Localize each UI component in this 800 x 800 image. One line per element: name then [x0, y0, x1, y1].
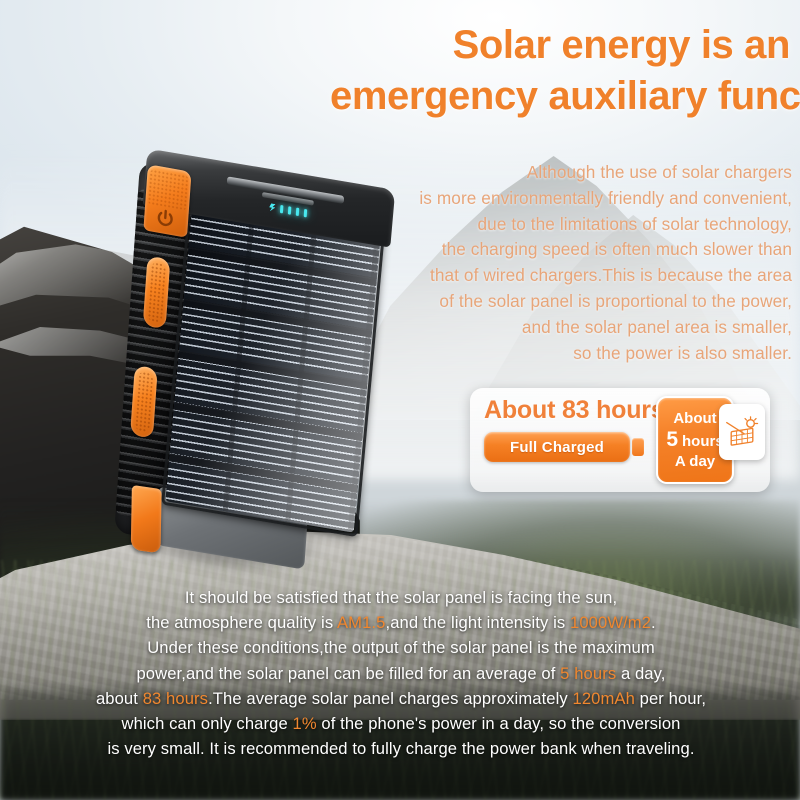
detail-paragraph: It should be satisfied that the solar pa… [20, 585, 782, 762]
headline-line-2: emergency auxiliary function [330, 71, 790, 122]
intro-line-5: that of wired chargers.This is because t… [300, 263, 792, 289]
text-run: . [651, 613, 656, 632]
text-run: Under these conditions,the output of the… [147, 638, 655, 657]
text-run: about [96, 689, 143, 708]
carry-strap [131, 485, 162, 554]
text-run: the atmosphere quality is [146, 613, 337, 632]
highlighted-value: 1000W/m2 [570, 613, 651, 632]
led-indicator [288, 206, 292, 214]
solar-panel-sun-icon [719, 404, 765, 460]
side-grip-pad [130, 365, 158, 439]
headline-line-1: Solar energy is an [330, 20, 790, 71]
intro-line-7: and the solar panel area is smaller, [300, 315, 792, 341]
highlighted-value: 5 hours [560, 664, 616, 683]
highlighted-value: 1% [292, 714, 316, 733]
highlighted-value: AM1.5 [337, 613, 385, 632]
intro-line-1: Although the use of solar chargers [300, 160, 792, 186]
battery-body: Full Charged [484, 432, 630, 462]
power-pad-texture [147, 169, 189, 212]
text-run: per hour, [635, 689, 706, 708]
daybox-line-2: 5 hours [666, 428, 723, 452]
detail-line-4: power,and the solar panel can be filled … [20, 661, 782, 686]
text-run: which can only charge [121, 714, 292, 733]
callout-title: About 83 hours [484, 396, 665, 425]
battery-bolt-icon [269, 203, 276, 212]
highlighted-value: 83 hours [143, 689, 208, 708]
detail-line-2: the atmosphere quality is AM1.5,and the … [20, 610, 782, 635]
text-run: of the phone's power in a day, so the co… [317, 714, 681, 733]
intro-line-2: is more environmentally friendly and con… [300, 186, 792, 212]
marketing-banner: Solar energy is an emergency auxiliary f… [0, 0, 800, 800]
text-run: ,and the light intensity is [385, 613, 570, 632]
highlighted-value: 120mAh [573, 689, 635, 708]
full-charged-battery-indicator: Full Charged [484, 432, 644, 462]
detail-line-5: about 83 hours.The average solar panel c… [20, 686, 782, 711]
detail-line-3: Under these conditions,the output of the… [20, 635, 782, 660]
text-run: .The average solar panel charges approxi… [208, 689, 572, 708]
side-grip-pad [143, 256, 171, 330]
intro-line-3: due to the limitations of solar technolo… [300, 212, 792, 238]
text-run: is very small. It is recommended to full… [107, 739, 694, 758]
detail-line-1: It should be satisfied that the solar pa… [20, 585, 782, 610]
text-run: a day, [616, 664, 665, 683]
intro-paragraph: Although the use of solar chargersis mor… [300, 160, 792, 366]
daybox-line-3: A day [675, 453, 715, 470]
led-indicator [296, 208, 300, 216]
daybox-unit: hours [682, 433, 724, 450]
intro-line-6: of the solar panel is proportional to th… [300, 289, 792, 315]
daybox-line-1: About [673, 410, 716, 427]
intro-line-4: the charging speed is often much slower … [300, 237, 792, 263]
led-indicator [280, 205, 284, 213]
page-title: Solar energy is an emergency auxiliary f… [330, 20, 790, 122]
charge-time-callout: About 83 hours Full Charged About 5 hour… [470, 388, 770, 492]
text-run: It should be satisfied that the solar pa… [185, 588, 617, 607]
detail-line-7: is very small. It is recommended to full… [20, 736, 782, 761]
detail-line-6: which can only charge 1% of the phone's … [20, 711, 782, 736]
power-icon[interactable] [154, 206, 177, 232]
battery-cap [632, 438, 644, 456]
battery-label: Full Charged [510, 439, 604, 456]
daybox-number: 5 [666, 428, 678, 452]
text-run: power,and the solar panel can be filled … [136, 664, 560, 683]
intro-line-8: so the power is also smaller. [300, 341, 792, 367]
